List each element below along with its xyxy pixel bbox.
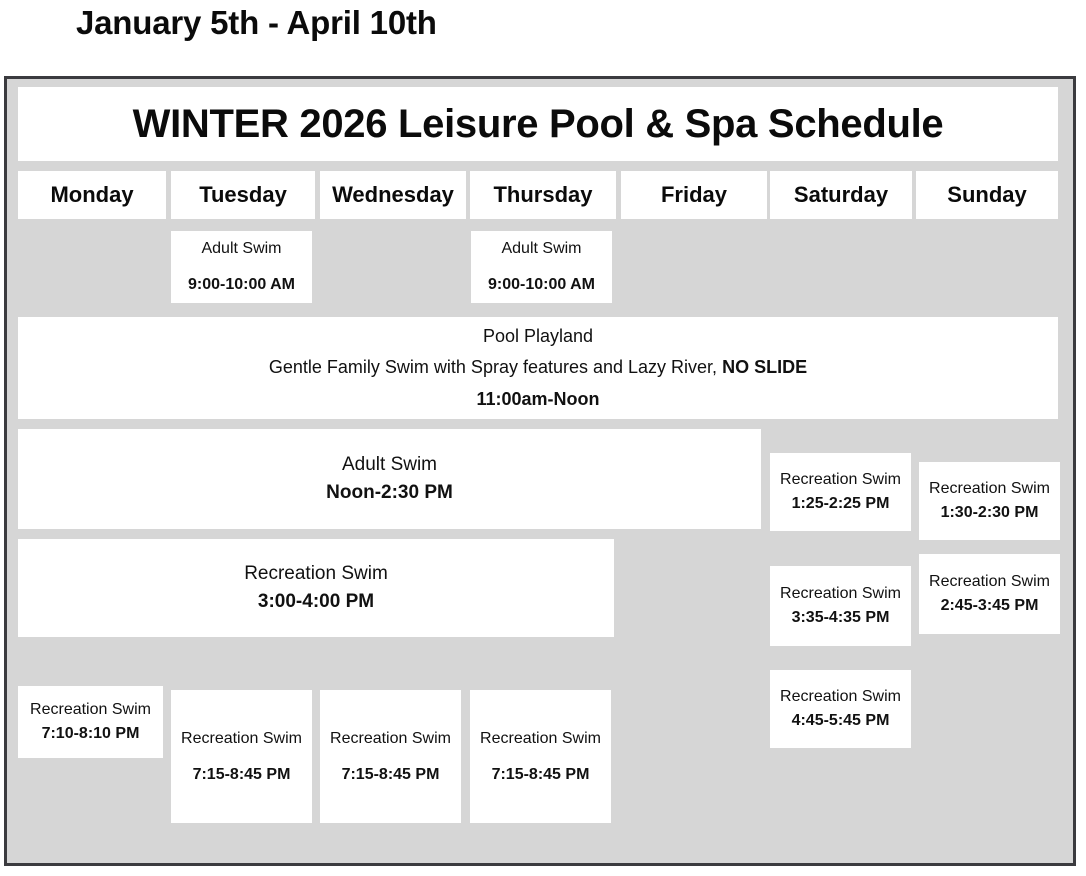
event-name: Recreation Swim: [181, 727, 302, 751]
event-time: 7:15-8:45 PM: [492, 763, 590, 787]
event-name: Recreation Swim: [929, 570, 1050, 594]
event-time: 9:00-10:00 AM: [488, 273, 595, 297]
event-time: 3:00-4:00 PM: [258, 588, 374, 617]
event-time: 2:45-3:45 PM: [941, 594, 1039, 618]
event-time: Noon-2:30 PM: [326, 479, 453, 508]
event-time: 7:15-8:45 PM: [342, 763, 440, 787]
event-time: 1:25-2:25 PM: [792, 492, 890, 516]
date-range-heading: January 5th - April 10th: [76, 4, 437, 42]
event-name: Adult Swim: [201, 237, 281, 261]
playland-time: 11:00am-Noon: [476, 384, 599, 416]
event-pool-playland[interactable]: Pool Playland Gentle Family Swim with Sp…: [18, 317, 1058, 419]
event-time: 7:10-8:10 PM: [42, 722, 140, 746]
event-sunday-recreation-swim-midday[interactable]: Recreation Swim 1:30-2:30 PM: [919, 462, 1060, 540]
event-saturday-recreation-swim-midday[interactable]: Recreation Swim 1:25-2:25 PM: [770, 453, 911, 531]
event-name: Adult Swim: [501, 237, 581, 261]
event-time: 9:00-10:00 AM: [188, 273, 295, 297]
event-name: Recreation Swim: [330, 727, 451, 751]
event-time: 1:30-2:30 PM: [941, 501, 1039, 525]
event-name: Recreation Swim: [929, 477, 1050, 501]
schedule-title: WINTER 2026 Leisure Pool & Spa Schedule: [18, 87, 1058, 161]
event-saturday-recreation-swim-late-afternoon[interactable]: Recreation Swim 4:45-5:45 PM: [770, 670, 911, 748]
event-thursday-adult-swim-morning[interactable]: Adult Swim 9:00-10:00 AM: [471, 231, 612, 303]
day-header-sunday: Sunday: [916, 171, 1058, 219]
event-tuesday-adult-swim-morning[interactable]: Adult Swim 9:00-10:00 AM: [171, 231, 312, 303]
day-header-tuesday: Tuesday: [171, 171, 315, 219]
event-wednesday-recreation-swim-evening[interactable]: Recreation Swim 7:15-8:45 PM: [320, 690, 461, 823]
day-header-friday: Friday: [621, 171, 767, 219]
event-weekday-adult-swim-midday[interactable]: Adult Swim Noon-2:30 PM: [18, 429, 761, 529]
schedule-page: January 5th - April 10th WINTER 2026 Lei…: [0, 0, 1086, 876]
day-header-thursday: Thursday: [470, 171, 616, 219]
event-name: Adult Swim: [342, 451, 437, 480]
event-monday-recreation-swim-evening[interactable]: Recreation Swim 7:10-8:10 PM: [18, 686, 163, 758]
day-header-wednesday: Wednesday: [320, 171, 466, 219]
event-sunday-recreation-swim-afternoon[interactable]: Recreation Swim 2:45-3:45 PM: [919, 554, 1060, 634]
schedule-table: WINTER 2026 Leisure Pool & Spa Schedule …: [4, 76, 1076, 866]
playland-no-slide-note: NO SLIDE: [722, 357, 807, 377]
event-thursday-recreation-swim-evening[interactable]: Recreation Swim 7:15-8:45 PM: [470, 690, 611, 823]
event-name: Recreation Swim: [244, 560, 388, 589]
event-name: Recreation Swim: [780, 468, 901, 492]
event-time: 4:45-5:45 PM: [792, 709, 890, 733]
playland-description: Gentle Family Swim with Spray features a…: [269, 352, 807, 384]
playland-description-text: Gentle Family Swim with Spray features a…: [269, 357, 722, 377]
day-header-monday: Monday: [18, 171, 166, 219]
playland-name: Pool Playland: [483, 321, 593, 353]
event-tuesday-recreation-swim-evening[interactable]: Recreation Swim 7:15-8:45 PM: [171, 690, 312, 823]
event-name: Recreation Swim: [480, 727, 601, 751]
event-name: Recreation Swim: [780, 685, 901, 709]
event-name: Recreation Swim: [780, 582, 901, 606]
event-time: 3:35-4:35 PM: [792, 606, 890, 630]
day-header-saturday: Saturday: [770, 171, 912, 219]
event-time: 7:15-8:45 PM: [193, 763, 291, 787]
event-name: Recreation Swim: [30, 698, 151, 722]
event-weekday-recreation-swim-afternoon[interactable]: Recreation Swim 3:00-4:00 PM: [18, 539, 614, 637]
event-saturday-recreation-swim-afternoon[interactable]: Recreation Swim 3:35-4:35 PM: [770, 566, 911, 646]
